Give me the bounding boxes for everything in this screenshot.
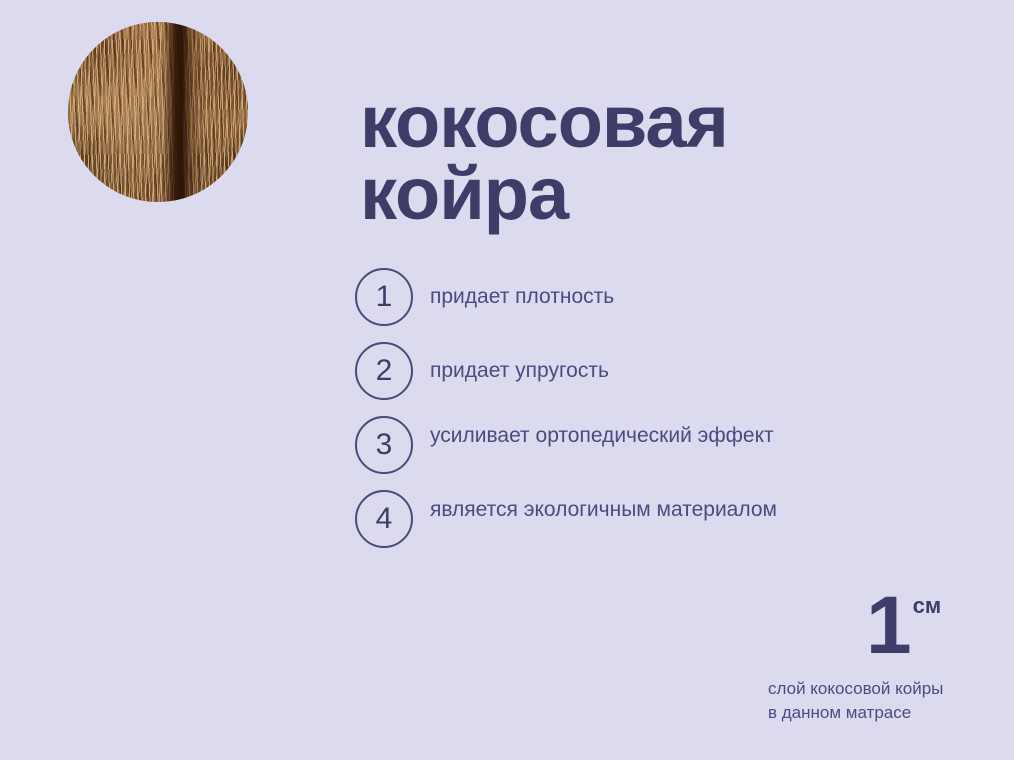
list-item-number: 3 [376,430,393,460]
thickness-caption-line-2: в данном матрасе [768,701,968,725]
page-title-line-1: кокосовая [360,86,920,159]
list-item-number: 1 [376,282,393,312]
list-item-label: является экологичным материалом [430,490,777,524]
list-item-number: 4 [376,504,393,534]
slide-root: кокосовая койра 1 придает плотность 2 пр… [0,0,1014,760]
thickness-unit: см [913,595,942,617]
list-item-number-badge: 3 [355,416,413,474]
list-item-label: придает упругость [430,342,609,385]
list-item-number-badge: 2 [355,342,413,400]
list-item-number-badge: 4 [355,490,413,548]
coconut-coir-photo [68,22,248,202]
list-item: 3 усиливает ортопедический эффект [355,416,825,474]
thickness-caption: слой кокосовой койры в данном матрасе [768,677,968,725]
page-title: кокосовая койра [360,86,920,231]
list-item: 2 придает упругость [355,342,825,400]
list-item: 1 придает плотность [355,268,825,326]
thickness-value: 1 [866,592,910,659]
thickness-value-row: 1 см [768,592,968,670]
list-item-label: придает плотность [430,268,614,311]
list-item-number-badge: 1 [355,268,413,326]
list-item-label: усиливает ортопедический эффект [430,416,774,450]
page-title-line-2: койра [360,158,920,231]
list-item-number: 2 [376,356,393,386]
coconut-coir-texture-icon [68,22,248,202]
thickness-caption-line-1: слой кокосовой койры [768,677,968,701]
thickness-callout: 1 см слой кокосовой койры в данном матра… [768,592,968,725]
benefits-list: 1 придает плотность 2 придает упругость … [355,268,825,548]
list-item: 4 является экологичным материалом [355,490,825,548]
